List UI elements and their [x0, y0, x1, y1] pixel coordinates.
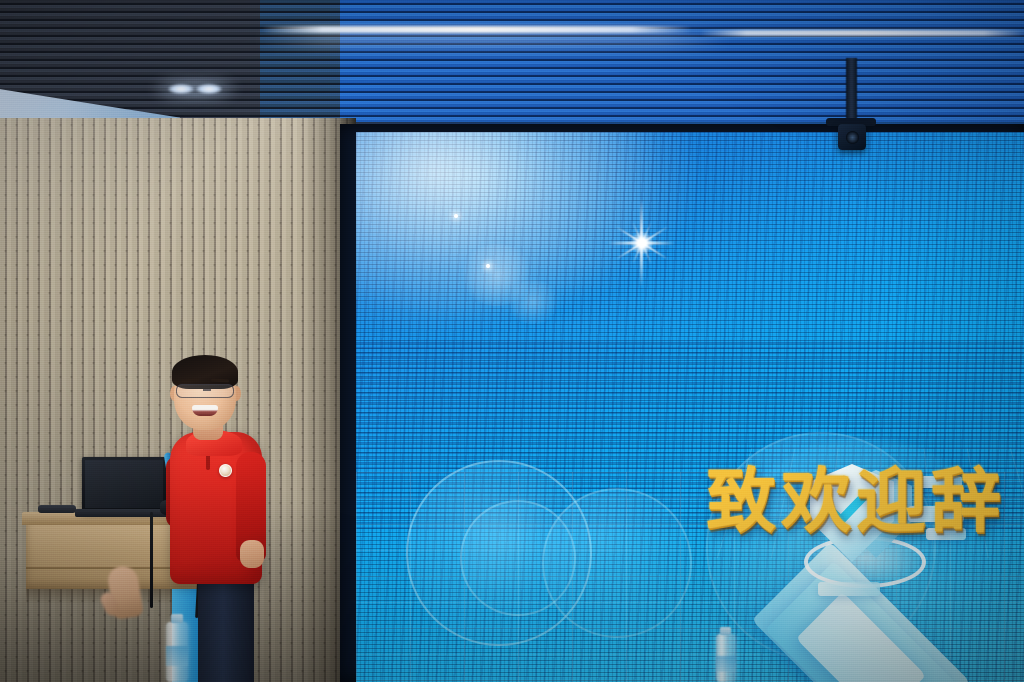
screen-pinpoint-2	[486, 264, 490, 268]
ceiling-strip-light	[262, 26, 692, 33]
speaker-right-hand	[240, 540, 264, 568]
sparkle-ray-horizontal	[608, 241, 676, 244]
screen-top-left-glow	[356, 132, 656, 332]
screen-bubble-large-left	[406, 460, 592, 646]
sparkle-ray-vertical	[640, 199, 643, 287]
speaker-smiling-mouth	[192, 405, 218, 416]
water-bottle-podium-cap	[171, 614, 183, 623]
water-bottle-right-label	[716, 656, 736, 672]
ceiling-downlight-right	[196, 84, 222, 94]
water-bottle-podium-label	[166, 646, 188, 666]
water-bottle-right-cap	[720, 627, 731, 635]
emblem-chip-4	[818, 582, 880, 596]
screen-bubble-inner-left	[460, 500, 576, 616]
ceiling-strip-light-right	[700, 30, 1024, 36]
ceiling-downlight-left	[168, 84, 194, 94]
slide-headline: 致欢迎辞	[706, 466, 1006, 536]
podium-remote-device	[38, 505, 76, 513]
screen-bubble-mid	[542, 488, 692, 638]
sparkle-core	[631, 232, 653, 254]
strip-light-glow	[258, 32, 728, 45]
sparkle-ray-diagonal-3	[631, 221, 652, 264]
conference-photo-scene: 致欢迎辞	[0, 0, 1024, 682]
podium-cable-left	[150, 512, 153, 608]
screen-pinpoint-1	[454, 214, 458, 218]
lens-flare-ghost-1	[460, 244, 534, 306]
sparkle-ray-diagonal-1	[615, 225, 669, 260]
speaker-trousers	[198, 575, 254, 682]
laptop-screen	[85, 460, 163, 508]
projector-mount-arm	[846, 58, 857, 120]
speaker-lapel-badge	[219, 464, 232, 477]
sparkle-ray-diagonal-4	[631, 221, 652, 264]
ceiling-slats-blue-reflection	[340, 0, 1024, 128]
projector-lens-icon	[846, 131, 859, 144]
sparkle-ray-diagonal-2	[615, 225, 669, 260]
lens-flare-ghost-2	[506, 280, 560, 324]
eyeglasses-icon	[176, 384, 234, 398]
screen-sparkle-star	[641, 242, 642, 243]
led-video-wall: 致欢迎辞	[356, 132, 1024, 682]
